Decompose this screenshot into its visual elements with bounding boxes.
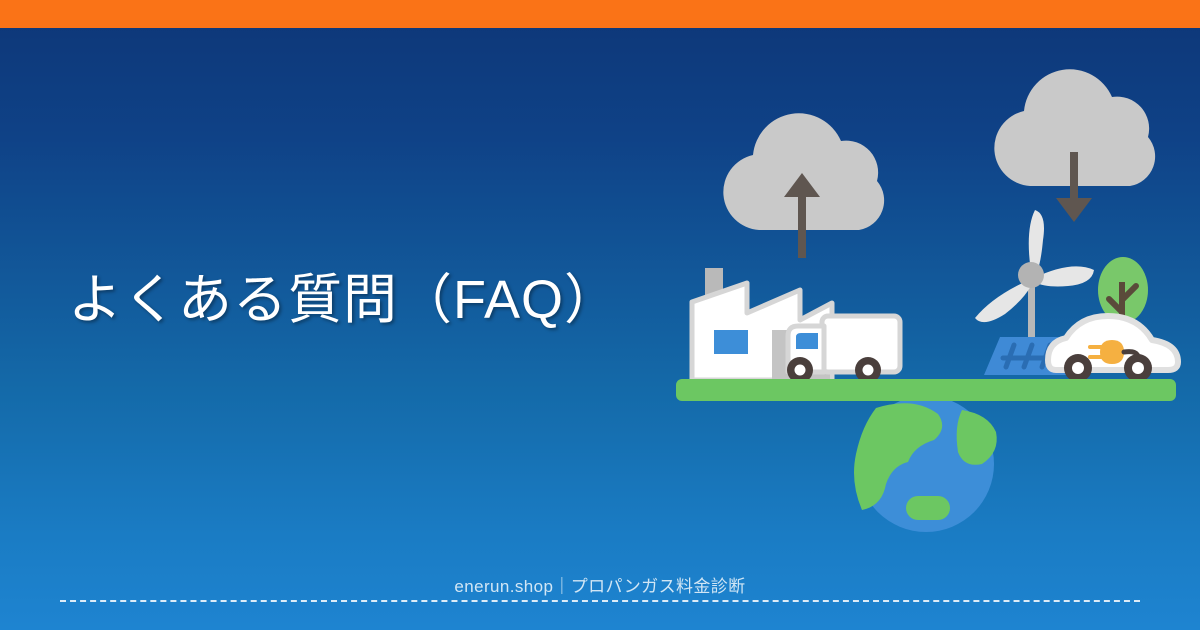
electric-car-icon [1048,316,1178,382]
footer: enerun.shop｜プロパンガス料金診断 [0,572,1200,612]
page-title: よくある質問（FAQ） [68,265,628,335]
cloud-down-arrow-icon [994,69,1155,222]
cloud-up-arrow-icon [723,113,884,258]
ground-bar [676,379,1176,401]
delivery-truck-icon [787,316,900,383]
footer-brand-text: enerun.shop｜プロパンガス料金診断 [454,572,745,597]
slide-canvas: よくある質問（FAQ） enerun.shop｜プロパンガス料金診断 [0,0,1200,630]
footer-divider [60,600,1140,602]
globe-icon [854,396,997,532]
